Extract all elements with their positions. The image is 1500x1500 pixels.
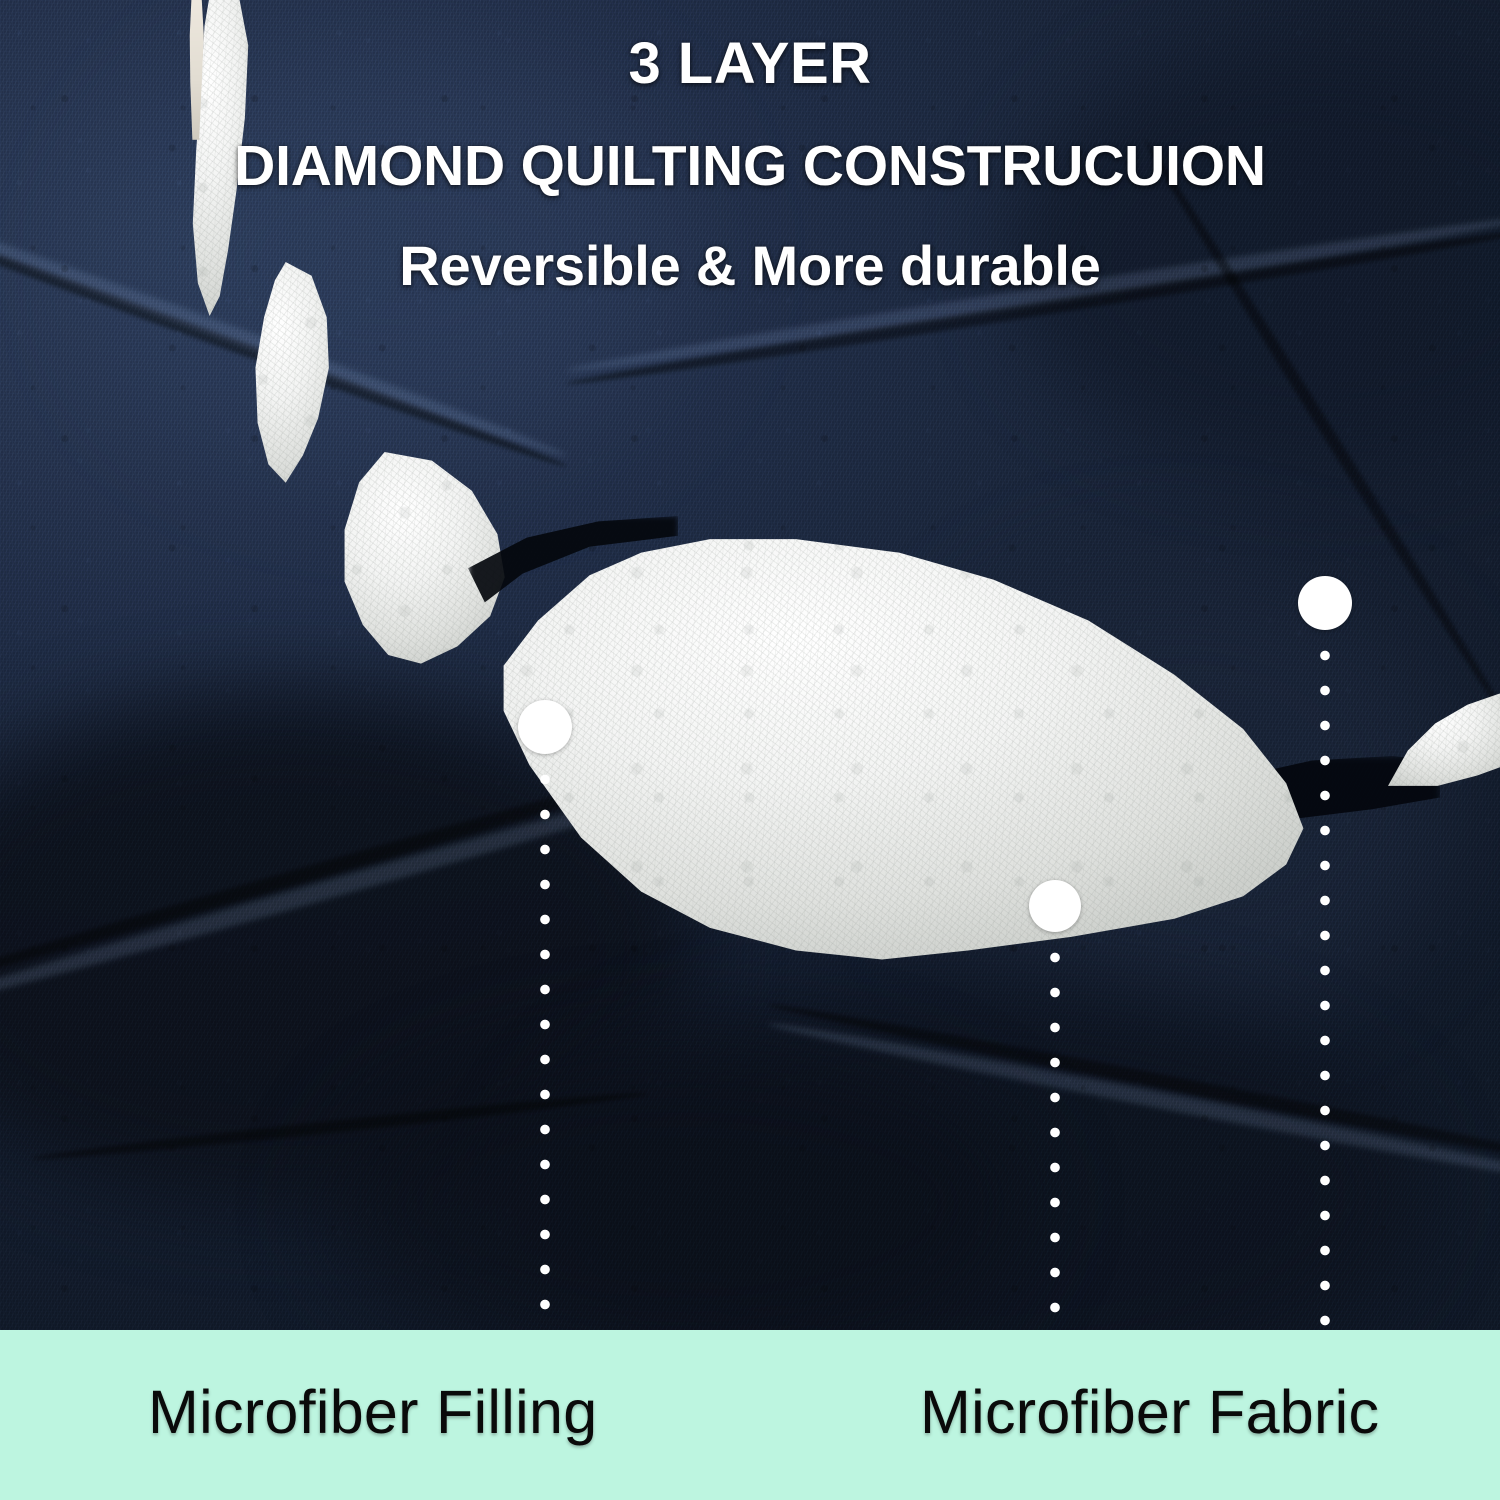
callout-marker-microfiber-fabric-mid[interactable] [1029,880,1081,1330]
leader-line-dotted-icon [1044,940,1066,1328]
quilted-fabric-photo: 3 LAYER DIAMOND QUILTING CONSTRUCUION Re… [0,0,1500,1330]
leader-line-dotted-icon [1314,638,1336,1328]
callout-knob-icon [1029,880,1081,932]
caption-microfiber-filling: Microfiber Filling [148,1377,597,1447]
leader-line-dotted-icon [534,762,556,1328]
caption-microfiber-fabric: Microfiber Fabric [920,1377,1379,1447]
caption-band: Microfiber Filling Microfiber Fabric [0,1330,1500,1500]
product-infographic: 3 LAYER DIAMOND QUILTING CONSTRUCUION Re… [0,0,1500,1500]
callout-marker-microfiber-fabric[interactable] [1298,576,1352,1330]
callout-knob-icon [1298,576,1352,630]
callout-marker-microfiber-filling[interactable] [518,700,572,1330]
callout-knob-icon [518,700,572,754]
